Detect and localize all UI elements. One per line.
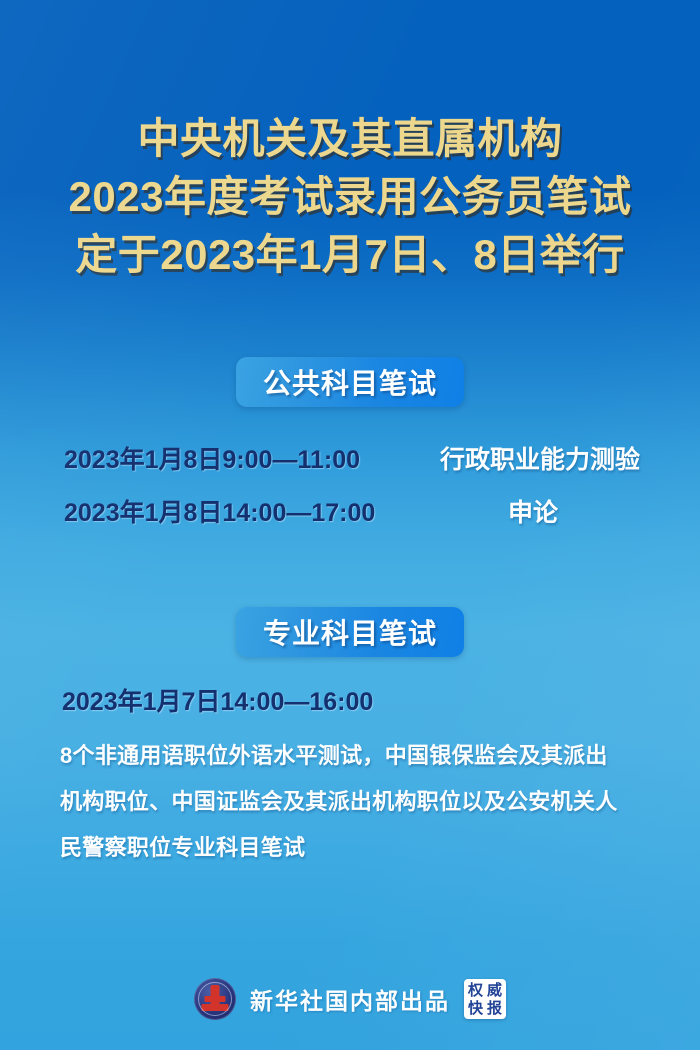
footer-publisher-text: 新华社国内部出品: [250, 982, 450, 1016]
section-badge-professional-subjects: 专业科目笔试: [236, 607, 464, 657]
stamp-char: 权: [468, 983, 483, 998]
stamp-char: 报: [487, 1001, 502, 1016]
schedule-subject: 行政职业能力测验: [440, 440, 640, 476]
title-line-3: 定于2023年1月7日、8日举行: [0, 234, 700, 276]
poster-title: 中央机关及其直属机构 2023年度考试录用公务员笔试 定于2023年1月7日、8…: [0, 118, 700, 276]
title-line-1: 中央机关及其直属机构: [0, 118, 700, 160]
logo-ring-shape: [198, 982, 232, 1016]
description-line: 8个非通用语职位外语水平测试，中国银保监会及其派出: [60, 733, 648, 779]
schedule-time: 2023年1月8日14:00—17:00: [64, 493, 375, 529]
professional-exam-description: 8个非通用语职位外语水平测试，中国银保监会及其派出 机构职位、中国证监会及其派出…: [60, 733, 648, 871]
xinhua-logo-icon: [194, 978, 236, 1020]
professional-exam-time: 2023年1月7日14:00—16:00: [62, 682, 373, 718]
authority-express-stamp-icon: 权 威 快 报: [464, 979, 506, 1019]
schedule-time: 2023年1月8日9:00—11:00: [64, 440, 360, 476]
section-badge-public-label: 公共科目笔试: [263, 362, 437, 402]
schedule-row: 2023年1月8日9:00—11:00 行政职业能力测验: [64, 440, 640, 476]
stamp-char: 快: [468, 1001, 483, 1016]
schedule-subject: 申论: [508, 493, 558, 529]
description-line: 民警察职位专业科目笔试: [60, 825, 648, 871]
schedule-row: 2023年1月8日14:00—17:00 申论: [64, 493, 640, 529]
description-line: 机构职位、中国证监会及其派出机构职位以及公安机关人: [60, 779, 648, 825]
poster-footer: 新华社国内部出品 权 威 快 报: [0, 978, 700, 1020]
section-badge-public-subjects: 公共科目笔试: [236, 357, 464, 407]
poster-canvas: 中央机关及其直属机构 2023年度考试录用公务员笔试 定于2023年1月7日、8…: [0, 0, 700, 1050]
title-line-2: 2023年度考试录用公务员笔试: [0, 176, 700, 218]
section-badge-professional-label: 专业科目笔试: [263, 612, 437, 652]
stamp-char: 威: [487, 983, 502, 998]
